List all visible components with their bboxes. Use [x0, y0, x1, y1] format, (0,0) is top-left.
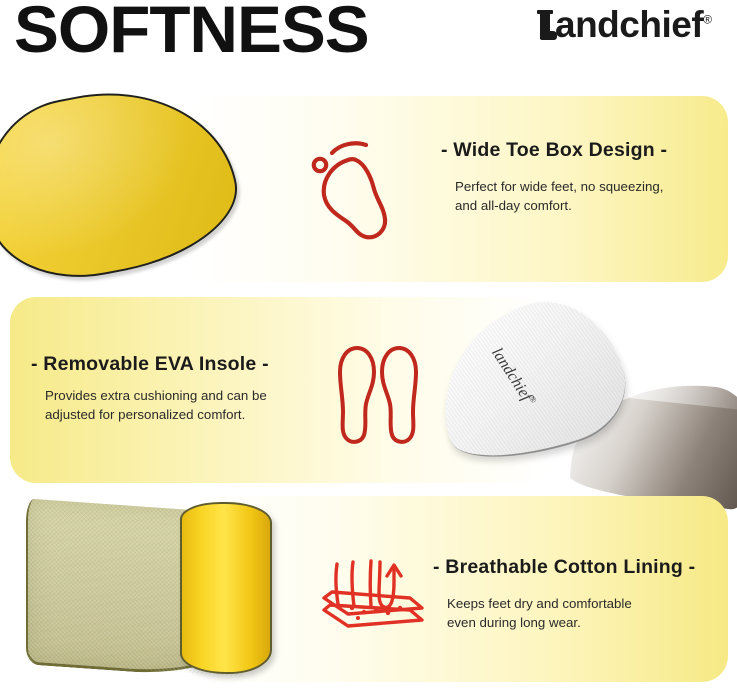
insole-surface	[0, 70, 249, 294]
curved-fabric-sheet-photo	[10, 498, 310, 688]
white-flexed-insole-photo: landchief®	[424, 300, 737, 492]
feature-body-removable-eva-insole: Provides extra cushioning and can be adj…	[45, 387, 267, 425]
header: SOFTNESS andchief®	[0, 0, 737, 88]
boot-icon	[536, 10, 556, 40]
feature-title-wide-toe-box: - Wide Toe Box Design -	[441, 139, 667, 162]
fabric-yellow-dog-print-face	[180, 502, 272, 674]
product-infographic-page: SOFTNESS andchief®	[0, 0, 737, 695]
yellow-dog-print-insole-photo	[0, 92, 252, 287]
brand-logo-text: andchief	[555, 4, 703, 45]
feature-body-wide-toe-box: Perfect for wide feet, no squeezing, and…	[455, 178, 663, 216]
foot-outline-icon	[308, 134, 404, 242]
two-footprints-icon	[333, 340, 429, 450]
feature-title-removable-eva-insole: - Removable EVA Insole -	[31, 353, 269, 376]
page-title: SOFTNESS	[14, 0, 369, 62]
feature-body-breathable-cotton-lining: Keeps feet dry and comfortable even duri…	[447, 595, 632, 633]
breathable-fabric-airflow-icon	[318, 552, 430, 648]
registered-trademark-symbol: ®	[703, 13, 711, 27]
feature-title-breathable-cotton-lining: - Breathable Cotton Lining -	[433, 556, 695, 579]
brand-logo: andchief®	[536, 6, 711, 43]
